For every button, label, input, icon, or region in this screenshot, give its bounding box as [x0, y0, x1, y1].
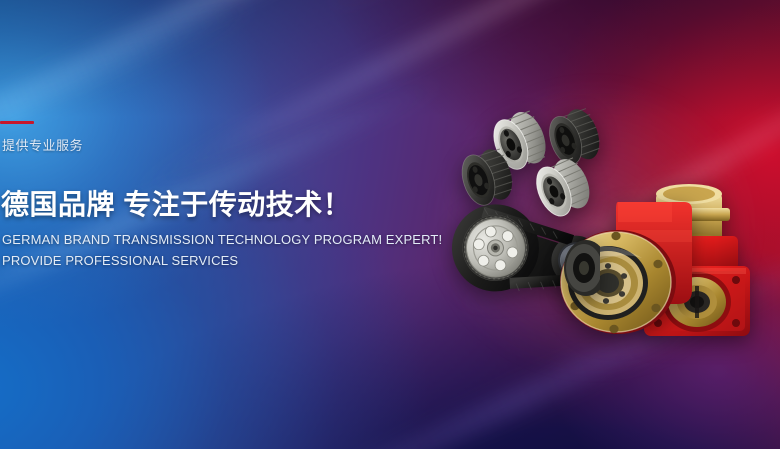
subtitle-line-2: PROVIDE PROFESSIONAL SERVICES: [2, 252, 238, 270]
promo-banner: 提供专业服务 德国品牌 专注于传动技术！ GERMAN BRAND TRANSM…: [0, 0, 780, 452]
accent-rule: [0, 121, 34, 124]
light-streak-6: [449, 2, 780, 322]
page-title: 德国品牌 专注于传动技术！: [1, 188, 351, 222]
subtitle-line-1: GERMAN BRAND TRANSMISSION TECHNOLOGY PRO…: [2, 231, 442, 249]
kicker-text: 提供专业服务: [2, 138, 83, 154]
light-streak-3: [318, 0, 780, 20]
light-streaks-group: [0, 0, 780, 452]
